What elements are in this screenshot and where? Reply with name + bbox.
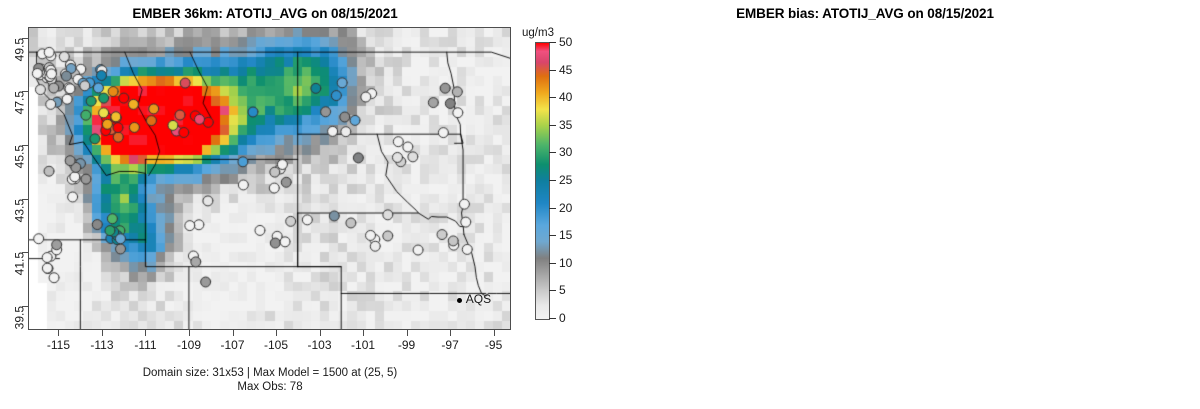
x-tick-label: -101 [351, 338, 375, 352]
model-colorbar-unit: ug/m3 [522, 27, 554, 39]
model-map-plot-area[interactable]: AQS [28, 27, 511, 330]
x-tick [145, 330, 146, 336]
colorbar-tick [549, 97, 556, 98]
x-tick-label: -97 [441, 338, 458, 352]
x-tick [233, 330, 234, 336]
colorbar-tick [549, 125, 556, 126]
colorbar-tick-label: 5 [559, 283, 566, 297]
model-caption: Domain size: 31x53 | Max Model = 1500 at… [0, 366, 540, 394]
x-tick-label: -105 [264, 338, 288, 352]
colorbar-tick [549, 263, 556, 264]
y-tick-label: 49.5 [12, 38, 26, 61]
x-tick-label: -109 [177, 338, 201, 352]
x-tick [320, 330, 321, 336]
x-tick-label: -99 [398, 338, 415, 352]
colorbar-tick-label: 50 [559, 35, 572, 49]
x-tick-label: -95 [485, 338, 502, 352]
x-tick-label: -107 [220, 338, 244, 352]
x-tick [189, 330, 190, 336]
colorbar-tick-label: 10 [559, 256, 572, 270]
x-tick [363, 330, 364, 336]
colorbar-tick [549, 70, 556, 71]
panel-model-title: EMBER 36km: ATOTIJ_AVG on 08/15/2021 [0, 6, 530, 21]
y-tick-label: 41.5 [12, 252, 26, 275]
x-tick [407, 330, 408, 336]
y-tick-label: 47.5 [12, 91, 26, 114]
colorbar-tick [549, 290, 556, 291]
aqs-legend-dot [457, 298, 462, 303]
colorbar-tick-label: 25 [559, 173, 572, 187]
x-tick-label: -115 [47, 338, 70, 352]
colorbar-tick-label: 35 [559, 118, 572, 132]
x-tick-label: -111 [134, 338, 156, 352]
aqs-legend-label: AQS [466, 292, 491, 306]
colorbar-tick [549, 42, 556, 43]
y-tick-label: 39.5 [12, 306, 26, 329]
colorbar-tick [549, 208, 556, 209]
colorbar-tick-label: 45 [559, 63, 572, 77]
panel-bias-title: EMBER bias: ATOTIJ_AVG on 08/15/2021 [600, 6, 1130, 21]
colorbar-tick [549, 152, 556, 153]
y-tick-label: 45.5 [12, 145, 26, 168]
colorbar-tick-label: 30 [559, 145, 572, 159]
model-caption-line1: Domain size: 31x53 | Max Model = 1500 at… [143, 367, 398, 379]
colorbar-tick-label: 40 [559, 90, 572, 104]
x-tick [450, 330, 451, 336]
x-tick [494, 330, 495, 336]
colorbar-tick-label: 0 [559, 311, 566, 325]
colorbar-tick [549, 235, 556, 236]
model-x-axis: -115-113-111-109-107-105-103-101-99-97-9… [28, 330, 511, 360]
colorbar-tick [549, 318, 556, 319]
panel-bias: EMBER bias: ATOTIJ_AVG on 08/15/2021 AQS… [600, 0, 1200, 409]
colorbar-tick-label: 20 [559, 201, 572, 215]
model-raster-canvas [29, 28, 511, 330]
model-colorbar: ug/m3 05101520253035404550 [520, 27, 600, 330]
colorbar-tick [549, 180, 556, 181]
x-tick-label: -113 [90, 338, 113, 352]
model-y-axis: 39.541.543.545.547.549.5 [0, 27, 28, 330]
y-tick-label: 43.5 [12, 199, 26, 222]
panel-model: EMBER 36km: ATOTIJ_AVG on 08/15/2021 AQS… [0, 0, 600, 409]
x-tick [276, 330, 277, 336]
model-colorbar-gradient [535, 42, 550, 320]
x-tick [58, 330, 59, 336]
model-caption-line2: Max Obs: 78 [0, 380, 540, 394]
colorbar-tick-label: 15 [559, 228, 572, 242]
x-tick [102, 330, 103, 336]
x-tick-label: -103 [308, 338, 332, 352]
